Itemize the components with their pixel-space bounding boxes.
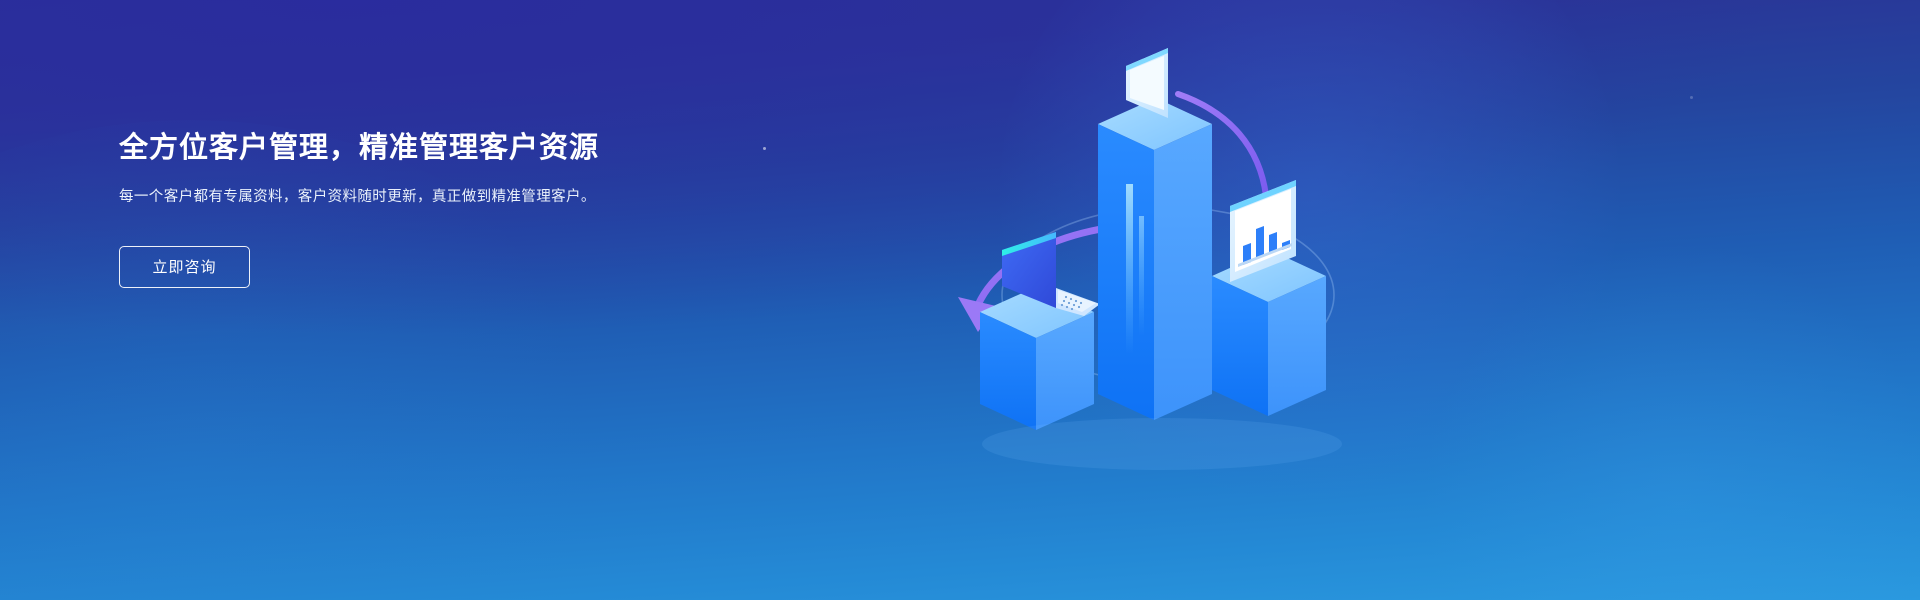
hero-copy: 全方位客户管理，精准管理客户资源 每一个客户都有专属资料，客户资料随时更新，真正…	[119, 131, 759, 288]
hero-subtitle: 每一个客户都有专属资料，客户资料随时更新，真正做到精准管理客户。	[119, 186, 599, 210]
sparkle-dot-icon	[1690, 96, 1693, 99]
consult-now-button[interactable]: 立即咨询	[119, 246, 250, 288]
background-glow-blob	[1420, 240, 1920, 600]
page-title: 全方位客户管理，精准管理客户资源	[119, 131, 759, 166]
hero-banner: 全方位客户管理，精准管理客户资源 每一个客户都有专属资料，客户资料随时更新，真正…	[0, 0, 1920, 600]
sparkle-dot-icon	[763, 147, 766, 150]
pillar-left	[980, 232, 1100, 430]
tablet-icon	[1126, 48, 1168, 118]
hero-illustration	[930, 20, 1400, 500]
pillar-right	[1212, 180, 1326, 416]
